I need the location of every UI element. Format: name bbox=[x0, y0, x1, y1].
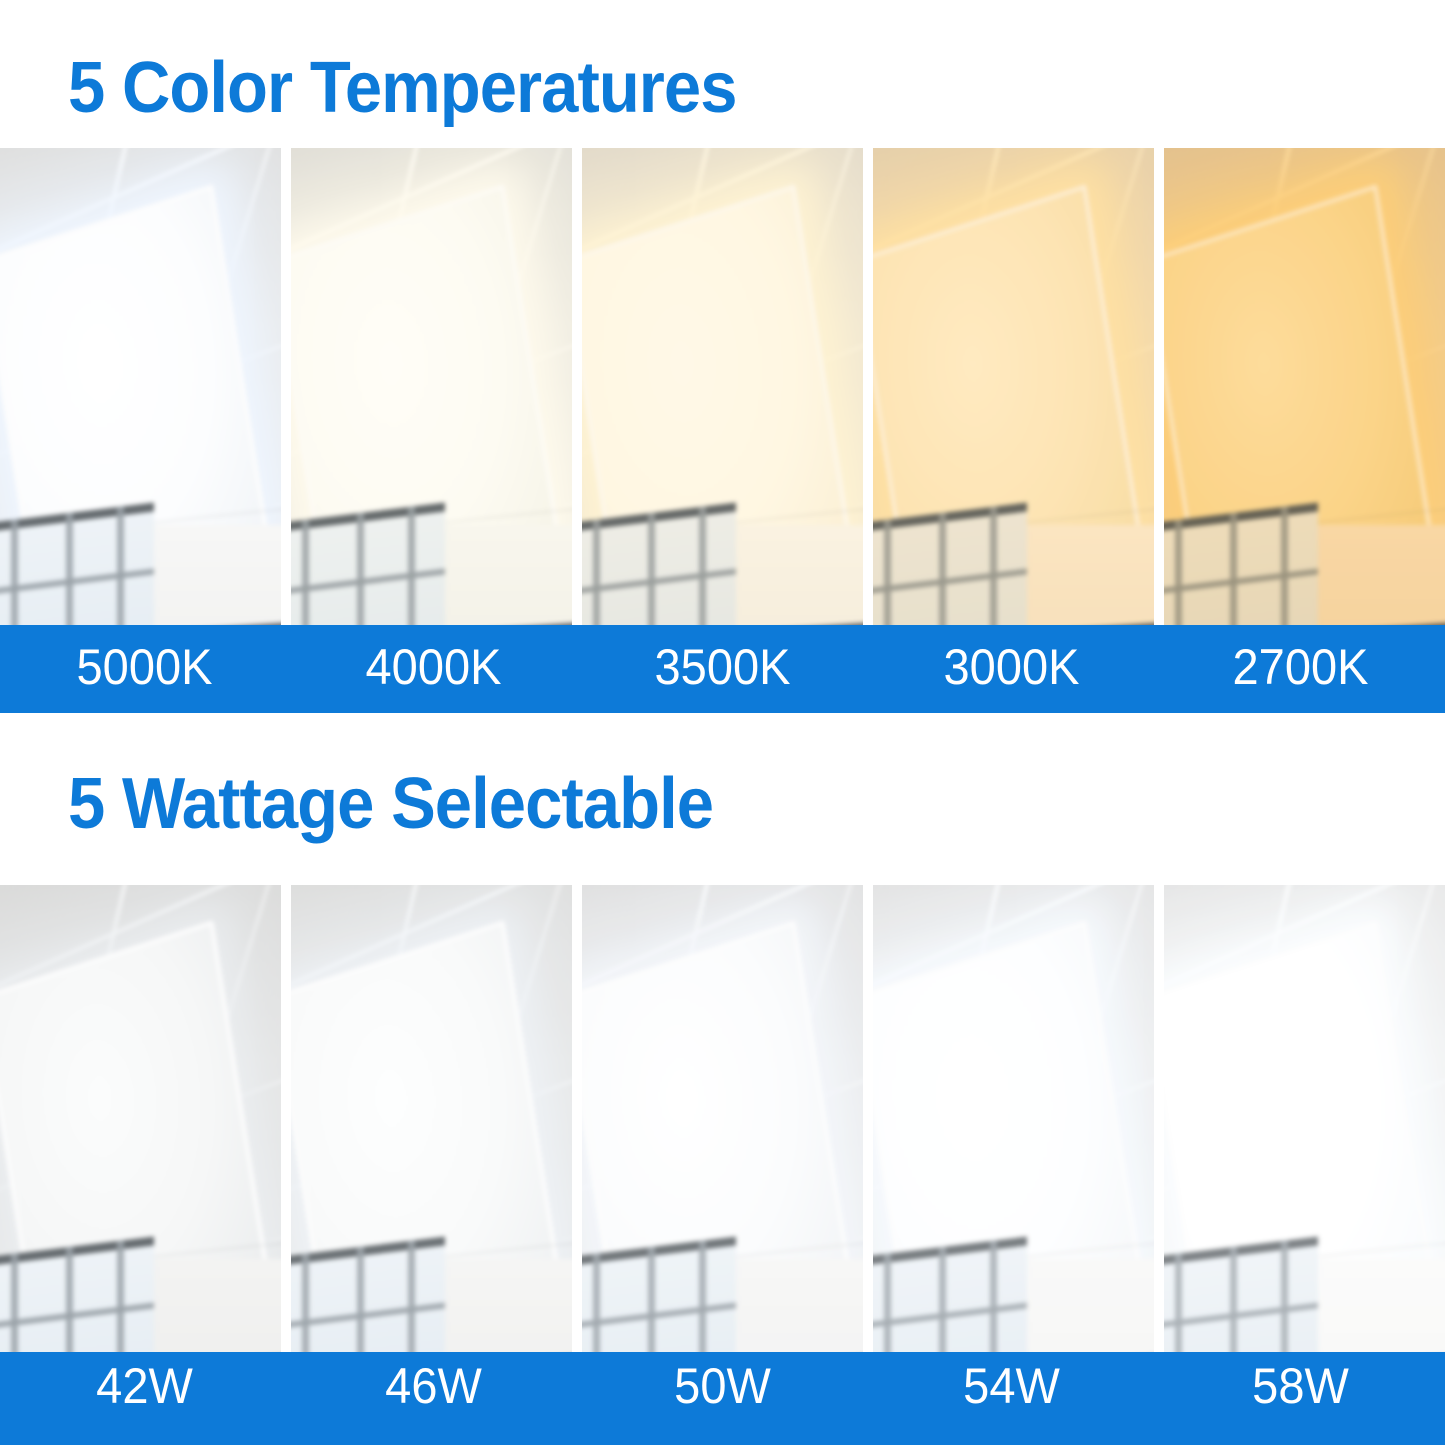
wattage-label-bar: 42W 46W 50W 54W 58W bbox=[0, 1352, 1445, 1445]
color-temperature-heading: 5 Color Temperatures bbox=[68, 52, 737, 124]
label-4000k: 4000K bbox=[298, 625, 570, 713]
wattage-heading: 5 Wattage Selectable bbox=[68, 768, 713, 840]
label-5000k: 5000K bbox=[9, 625, 281, 713]
label-46w: 46W bbox=[298, 1352, 570, 1445]
label-2700k: 2700K bbox=[1165, 625, 1437, 713]
label-54w: 54W bbox=[876, 1352, 1148, 1445]
label-58w: 58W bbox=[1165, 1352, 1437, 1445]
label-42w: 42W bbox=[9, 1352, 281, 1445]
color-temperature-label-bar: 5000K 4000K 3500K 3000K 2700K bbox=[0, 625, 1445, 713]
infographic-page: 5 Color Temperatures bbox=[0, 0, 1445, 1445]
label-3500k: 3500K bbox=[587, 625, 859, 713]
label-50w: 50W bbox=[587, 1352, 859, 1445]
label-3000k: 3000K bbox=[876, 625, 1148, 713]
